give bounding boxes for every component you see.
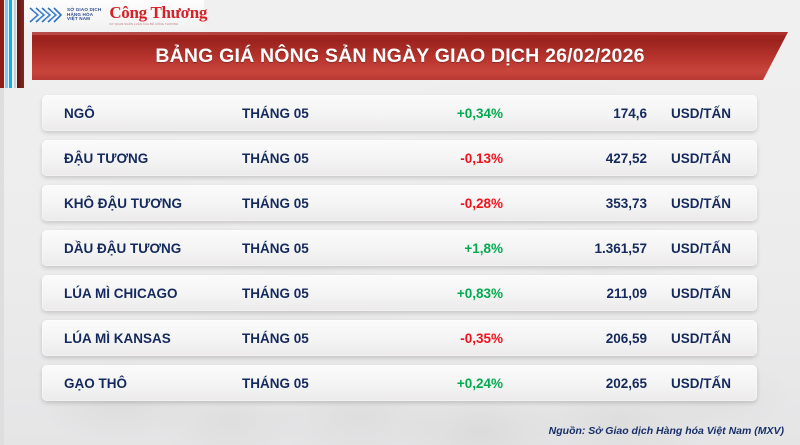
price-value: 211,09 <box>517 286 657 301</box>
cong-thuong-subtitle: CƠ QUAN NGÔN LUẬN CỦA BỘ CÔNG THƯƠNG <box>109 23 207 26</box>
stripe-cyan <box>9 0 12 88</box>
commodity-name: KHÔ ĐẬU TƯƠNG <box>42 196 242 211</box>
contract-month: THÁNG 05 <box>242 106 372 121</box>
commodity-name: NGÔ <box>42 106 242 121</box>
commodity-name: LÚA MÌ KANSAS <box>42 331 242 346</box>
contract-month: THÁNG 05 <box>242 151 372 166</box>
price-unit: USD/TẤN <box>657 286 757 301</box>
page-title: BẢNG GIÁ NÔNG SẢN NGÀY GIAO DỊCH 26/02/2… <box>155 45 644 68</box>
table-row[interactable]: GẠO THÔTHÁNG 05+0,24%202,65USD/TẤN <box>42 365 757 401</box>
cong-thuong-logo: Công Thương CƠ QUAN NGÔN LUẬN CỦA BỘ CÔN… <box>109 4 207 26</box>
commodity-name: DẦU ĐẬU TƯƠNG <box>42 241 242 256</box>
commodity-name: LÚA MÌ CHICAGO <box>42 286 242 301</box>
mxv-logo-line-3: VIỆT NAM <box>67 17 101 22</box>
mxv-logo: SỞ GIAO DỊCH HÀNG HÓA VIỆT NAM <box>27 5 101 25</box>
price-value: 202,65 <box>517 376 657 391</box>
price-value: 353,73 <box>517 196 657 211</box>
table-row[interactable]: KHÔ ĐẬU TƯƠNGTHÁNG 05-0,28%353,73USD/TẤN <box>42 185 757 221</box>
table-row[interactable]: LÚA MÌ CHICAGOTHÁNG 05+0,83%211,09USD/TẤ… <box>42 275 757 311</box>
contract-month: THÁNG 05 <box>242 241 372 256</box>
stripe-grey <box>14 0 16 88</box>
contract-month: THÁNG 05 <box>242 376 372 391</box>
source-note: Nguồn: Sở Giao dịch Hàng hóa Việt Nam (M… <box>549 425 784 437</box>
price-unit: USD/TẤN <box>657 106 757 121</box>
commodity-name: ĐẬU TƯƠNG <box>42 151 242 166</box>
change-percent: +0,34% <box>372 106 517 121</box>
price-unit: USD/TẤN <box>657 241 757 256</box>
price-value: 1.361,57 <box>517 241 657 256</box>
price-unit: USD/TẤN <box>657 376 757 391</box>
commodity-name: GẠO THÔ <box>42 376 242 391</box>
price-value: 427,52 <box>517 151 657 166</box>
price-unit: USD/TẤN <box>657 151 757 166</box>
logo-bar: SỞ GIAO DỊCH HÀNG HÓA VIỆT NAM Công Thươ… <box>24 0 204 30</box>
change-percent: -0,35% <box>372 331 517 346</box>
mxv-chevron-logo-icon <box>27 5 64 25</box>
change-percent: +1,8% <box>372 241 517 256</box>
table-row[interactable]: NGÔTHÁNG 05+0,34%174,6USD/TẤN <box>42 95 757 131</box>
stripe-maroon <box>17 0 24 88</box>
table-row[interactable]: LÚA MÌ KANSASTHÁNG 05-0,35%206,59USD/TẤN <box>42 320 757 356</box>
contract-month: THÁNG 05 <box>242 196 372 211</box>
contract-month: THÁNG 05 <box>242 331 372 346</box>
mxv-logo-text: SỞ GIAO DỊCH HÀNG HÓA VIỆT NAM <box>67 8 101 22</box>
title-banner: BẢNG GIÁ NÔNG SẢN NGÀY GIAO DỊCH 26/02/2… <box>32 32 788 80</box>
price-unit: USD/TẤN <box>657 331 757 346</box>
contract-month: THÁNG 05 <box>242 286 372 301</box>
price-value: 174,6 <box>517 106 657 121</box>
cong-thuong-name: Công Thương <box>109 4 207 21</box>
commodity-price-table: NGÔTHÁNG 05+0,34%174,6USD/TẤNĐẬU TƯƠNGTH… <box>42 95 757 410</box>
change-percent: -0,28% <box>372 196 517 211</box>
price-value: 206,59 <box>517 331 657 346</box>
stripe-light-blue <box>5 0 8 88</box>
change-percent: +0,83% <box>372 286 517 301</box>
price-unit: USD/TẤN <box>657 196 757 211</box>
table-row[interactable]: ĐẬU TƯƠNGTHÁNG 05-0,13%427,52USD/TẤN <box>42 140 757 176</box>
left-edge-strip <box>0 88 4 445</box>
change-percent: +0,24% <box>372 376 517 391</box>
stripe-dark-red <box>0 0 4 88</box>
table-row[interactable]: DẦU ĐẬU TƯƠNGTHÁNG 05+1,8%1.361,57USD/TẤ… <box>42 230 757 266</box>
change-percent: -0,13% <box>372 151 517 166</box>
